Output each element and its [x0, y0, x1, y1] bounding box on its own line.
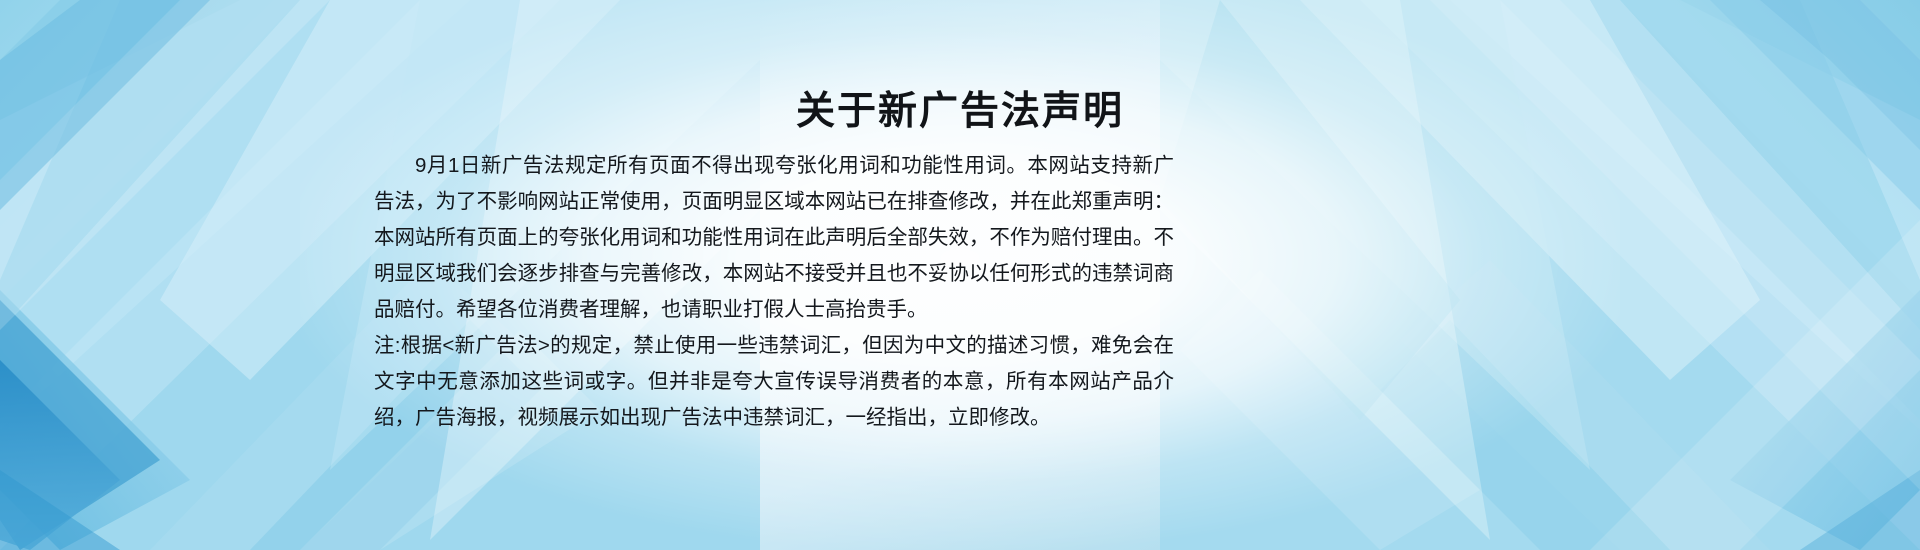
- statement-content: 关于新广告法声明 9月1日新广告法规定所有页面不得出现夸张化用词和功能性用词。本…: [0, 0, 1920, 550]
- statement-paragraph-main: 9月1日新广告法规定所有页面不得出现夸张化用词和功能性用词。本网站支持新广告法，…: [374, 148, 1174, 328]
- page-title: 关于新广告法声明: [0, 88, 1920, 137]
- advertising-law-banner: 关于新广告法声明 9月1日新广告法规定所有页面不得出现夸张化用词和功能性用词。本…: [0, 0, 1920, 550]
- statement-body: 9月1日新广告法规定所有页面不得出现夸张化用词和功能性用词。本网站支持新广告法，…: [374, 148, 1174, 436]
- statement-paragraph-note: 注:根据<新广告法>的规定，禁止使用一些违禁词汇，但因为中文的描述习惯，难免会在…: [374, 328, 1174, 436]
